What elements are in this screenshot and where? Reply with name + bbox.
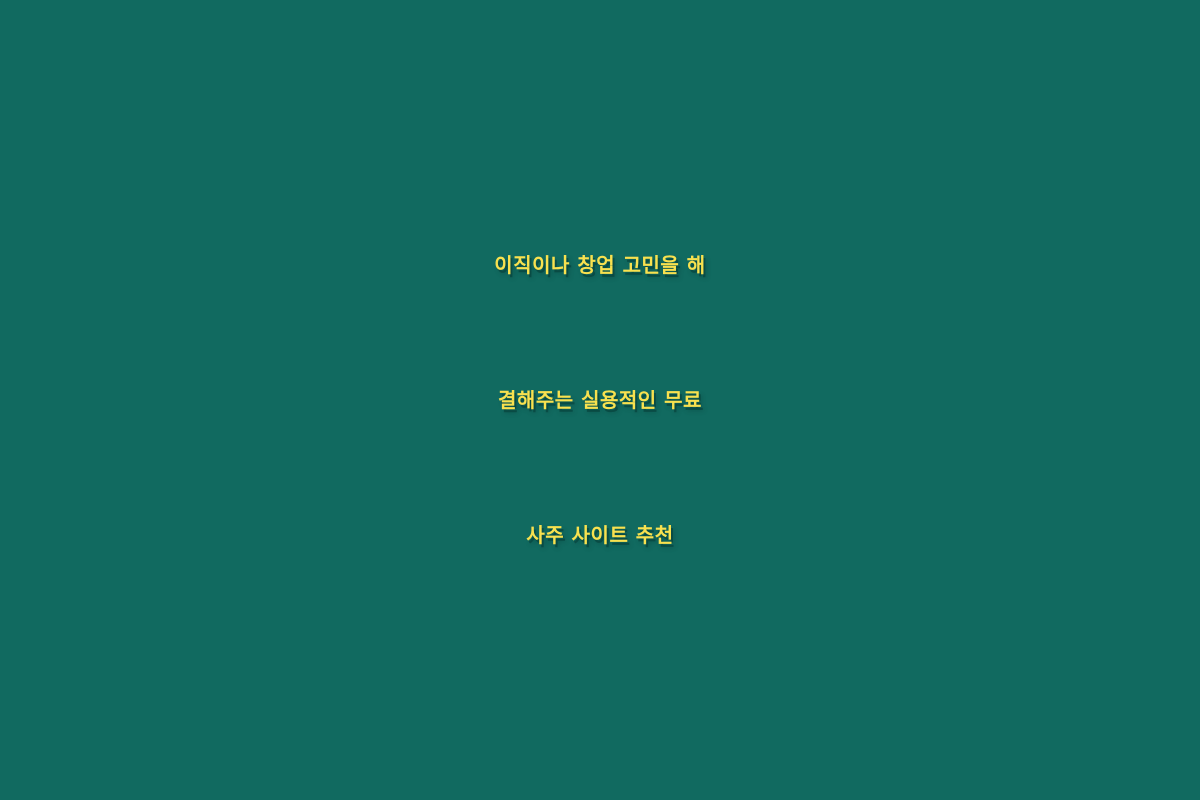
headline-text-block: 이직이나 창업 고민을 해 결해주는 실용적인 무료 사주 사이트 추천 xyxy=(70,198,1130,603)
thumbnail-card: 이직이나 창업 고민을 해 결해주는 실용적인 무료 사주 사이트 추천 xyxy=(0,0,1200,800)
headline-line-3: 사주 사이트 추천 xyxy=(70,468,1130,603)
headline-line-1: 이직이나 창업 고민을 해 xyxy=(70,198,1130,333)
headline-line-2: 결해주는 실용적인 무료 xyxy=(70,333,1130,468)
